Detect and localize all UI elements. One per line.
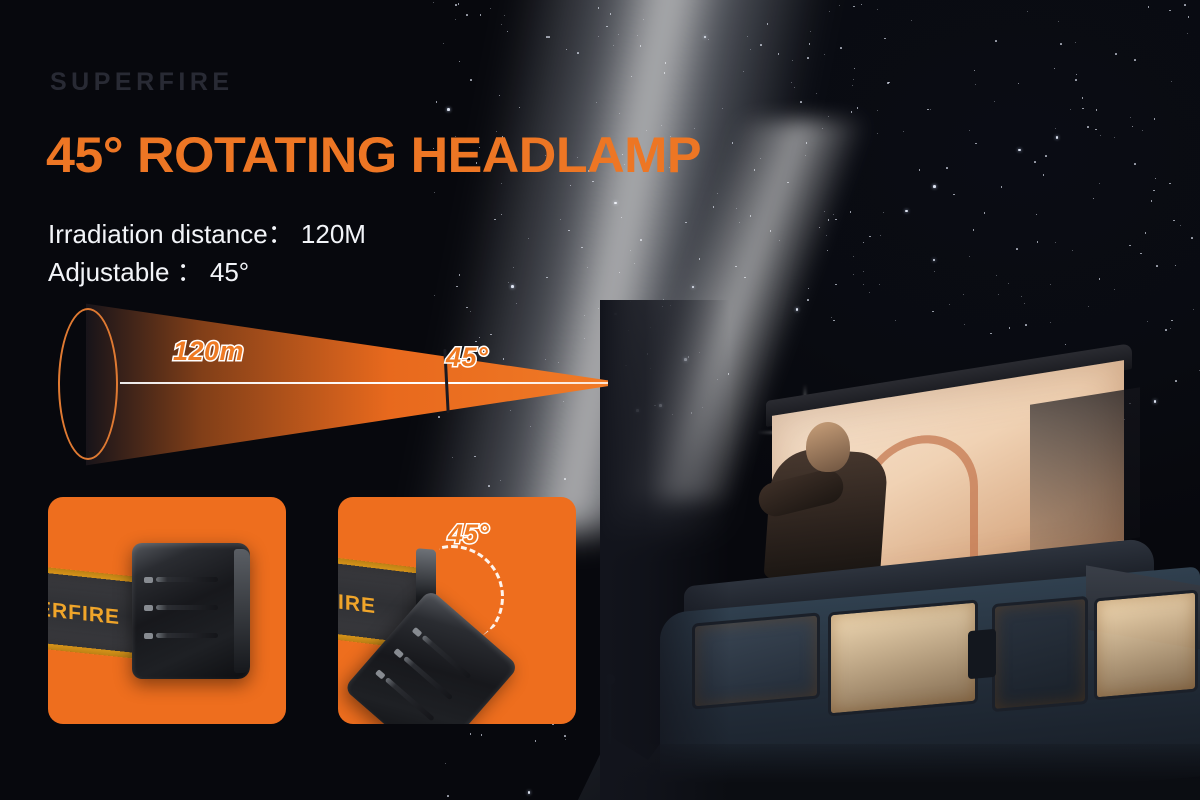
beam-aperture-ellipse-icon [58,308,118,460]
spec-irradiation-distance: Irradiation distance： 120M [48,214,366,251]
camper-van-photo [600,300,1200,800]
lamp-vent-dot [144,633,153,639]
van-side-mirror [968,629,996,679]
beam-distance-label: 120m [173,336,244,367]
lamp-head-body [132,543,250,679]
lamp-vent-slot [156,577,218,582]
lamp-vent-dot [393,648,404,658]
brand-logo: SUPERFIRE [50,68,234,97]
beam-cone-shape [86,302,608,467]
tent-shadow [1030,387,1140,554]
product-card-headlamp-rotated[interactable]: RFIRE 45° [338,497,576,724]
lamp-side-cap [234,549,250,673]
van-window-mid [828,599,978,716]
lamp-vent-slot [421,635,471,679]
beam-distance-diagram: 120m 45° [48,302,608,467]
lamp-vent-dot [144,577,153,583]
lamp-vent-slot [385,677,435,721]
photo-left-fade [600,300,730,800]
lamp-vent-dot [375,669,386,679]
lamp-vent-slot [403,656,453,700]
promo-banner: SUPERFIRE 45° ROTATING HEADLAMP Irradiat… [0,0,1200,800]
lamp-vent-dot [144,605,153,611]
lamp-vent-slot [156,605,218,610]
spec-adjustable-angle: Adjustable ： 45° [48,252,249,289]
page-title: 45° ROTATING HEADLAMP [46,126,701,184]
lamp-vent-slot [156,633,218,638]
beam-angle-label: 45° [446,342,488,373]
van-window-door [992,596,1088,712]
lamp-vent-dot [412,627,423,637]
van-window-rear [1094,589,1198,700]
rotation-angle-label: 45° [448,519,489,550]
person-head [806,422,850,472]
beam-axis-line [120,382,608,384]
product-card-headlamp-front[interactable]: PERFIRE [48,497,286,724]
